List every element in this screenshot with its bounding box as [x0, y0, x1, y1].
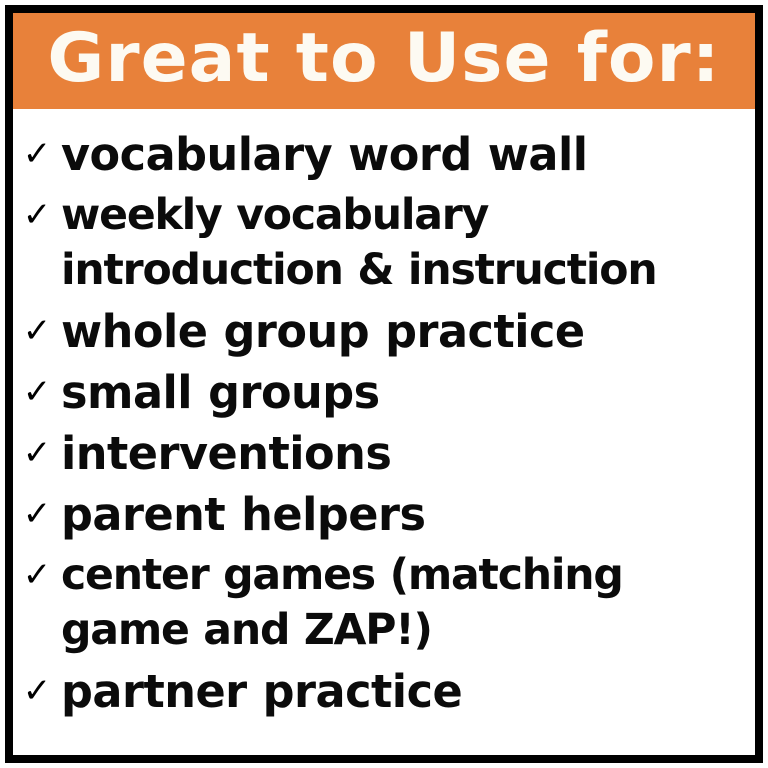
header-banner: Great to Use for:	[13, 13, 755, 109]
list-item: ✓ vocabulary word wall	[13, 127, 755, 182]
list-item-label: interventions	[61, 426, 748, 481]
list-item-label: center games (matching game and ZAP!)	[61, 548, 748, 658]
list-item: ✓ center games (matching game and ZAP!)	[13, 548, 755, 658]
list-item-label: partner practice	[61, 664, 748, 719]
poster-frame: Great to Use for: ✓ vocabulary word wall…	[5, 5, 763, 763]
checkmark-icon: ✓	[13, 548, 61, 603]
checkmark-icon: ✓	[13, 304, 61, 359]
list-item: ✓ weekly vocabulary introduction & instr…	[13, 188, 755, 298]
checkmark-icon: ✓	[13, 188, 61, 243]
list-item: ✓ whole group practice	[13, 304, 755, 359]
checkmark-icon: ✓	[13, 664, 61, 719]
list-item: ✓ interventions	[13, 426, 755, 481]
list-item-label: vocabulary word wall	[61, 127, 748, 182]
list-item: ✓ parent helpers	[13, 487, 755, 542]
list-item: ✓ small groups	[13, 365, 755, 420]
list-item-label: whole group practice	[61, 304, 748, 359]
list-item-label: parent helpers	[61, 487, 748, 542]
checkmark-icon: ✓	[13, 487, 61, 542]
use-cases-list: ✓ vocabulary word wall ✓ weekly vocabula…	[13, 109, 755, 755]
list-item: ✓ partner practice	[13, 664, 755, 719]
page-title: Great to Use for:	[47, 25, 720, 97]
checkmark-icon: ✓	[13, 426, 61, 481]
checkmark-icon: ✓	[13, 365, 61, 420]
checkmark-icon: ✓	[13, 127, 61, 182]
list-item-label: weekly vocabulary introduction & instruc…	[61, 188, 748, 298]
list-item-label: small groups	[61, 365, 748, 420]
